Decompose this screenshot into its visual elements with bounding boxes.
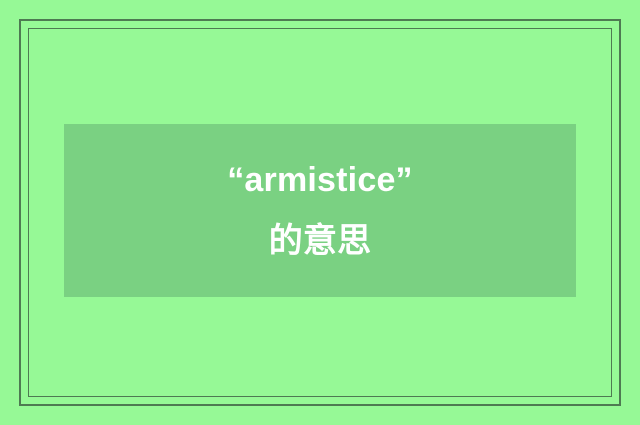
image-card: “armistice”的意思 <box>0 0 640 425</box>
headline-plate: “armistice”的意思 <box>64 124 576 297</box>
headline-text: “armistice”的意思 <box>227 150 413 272</box>
